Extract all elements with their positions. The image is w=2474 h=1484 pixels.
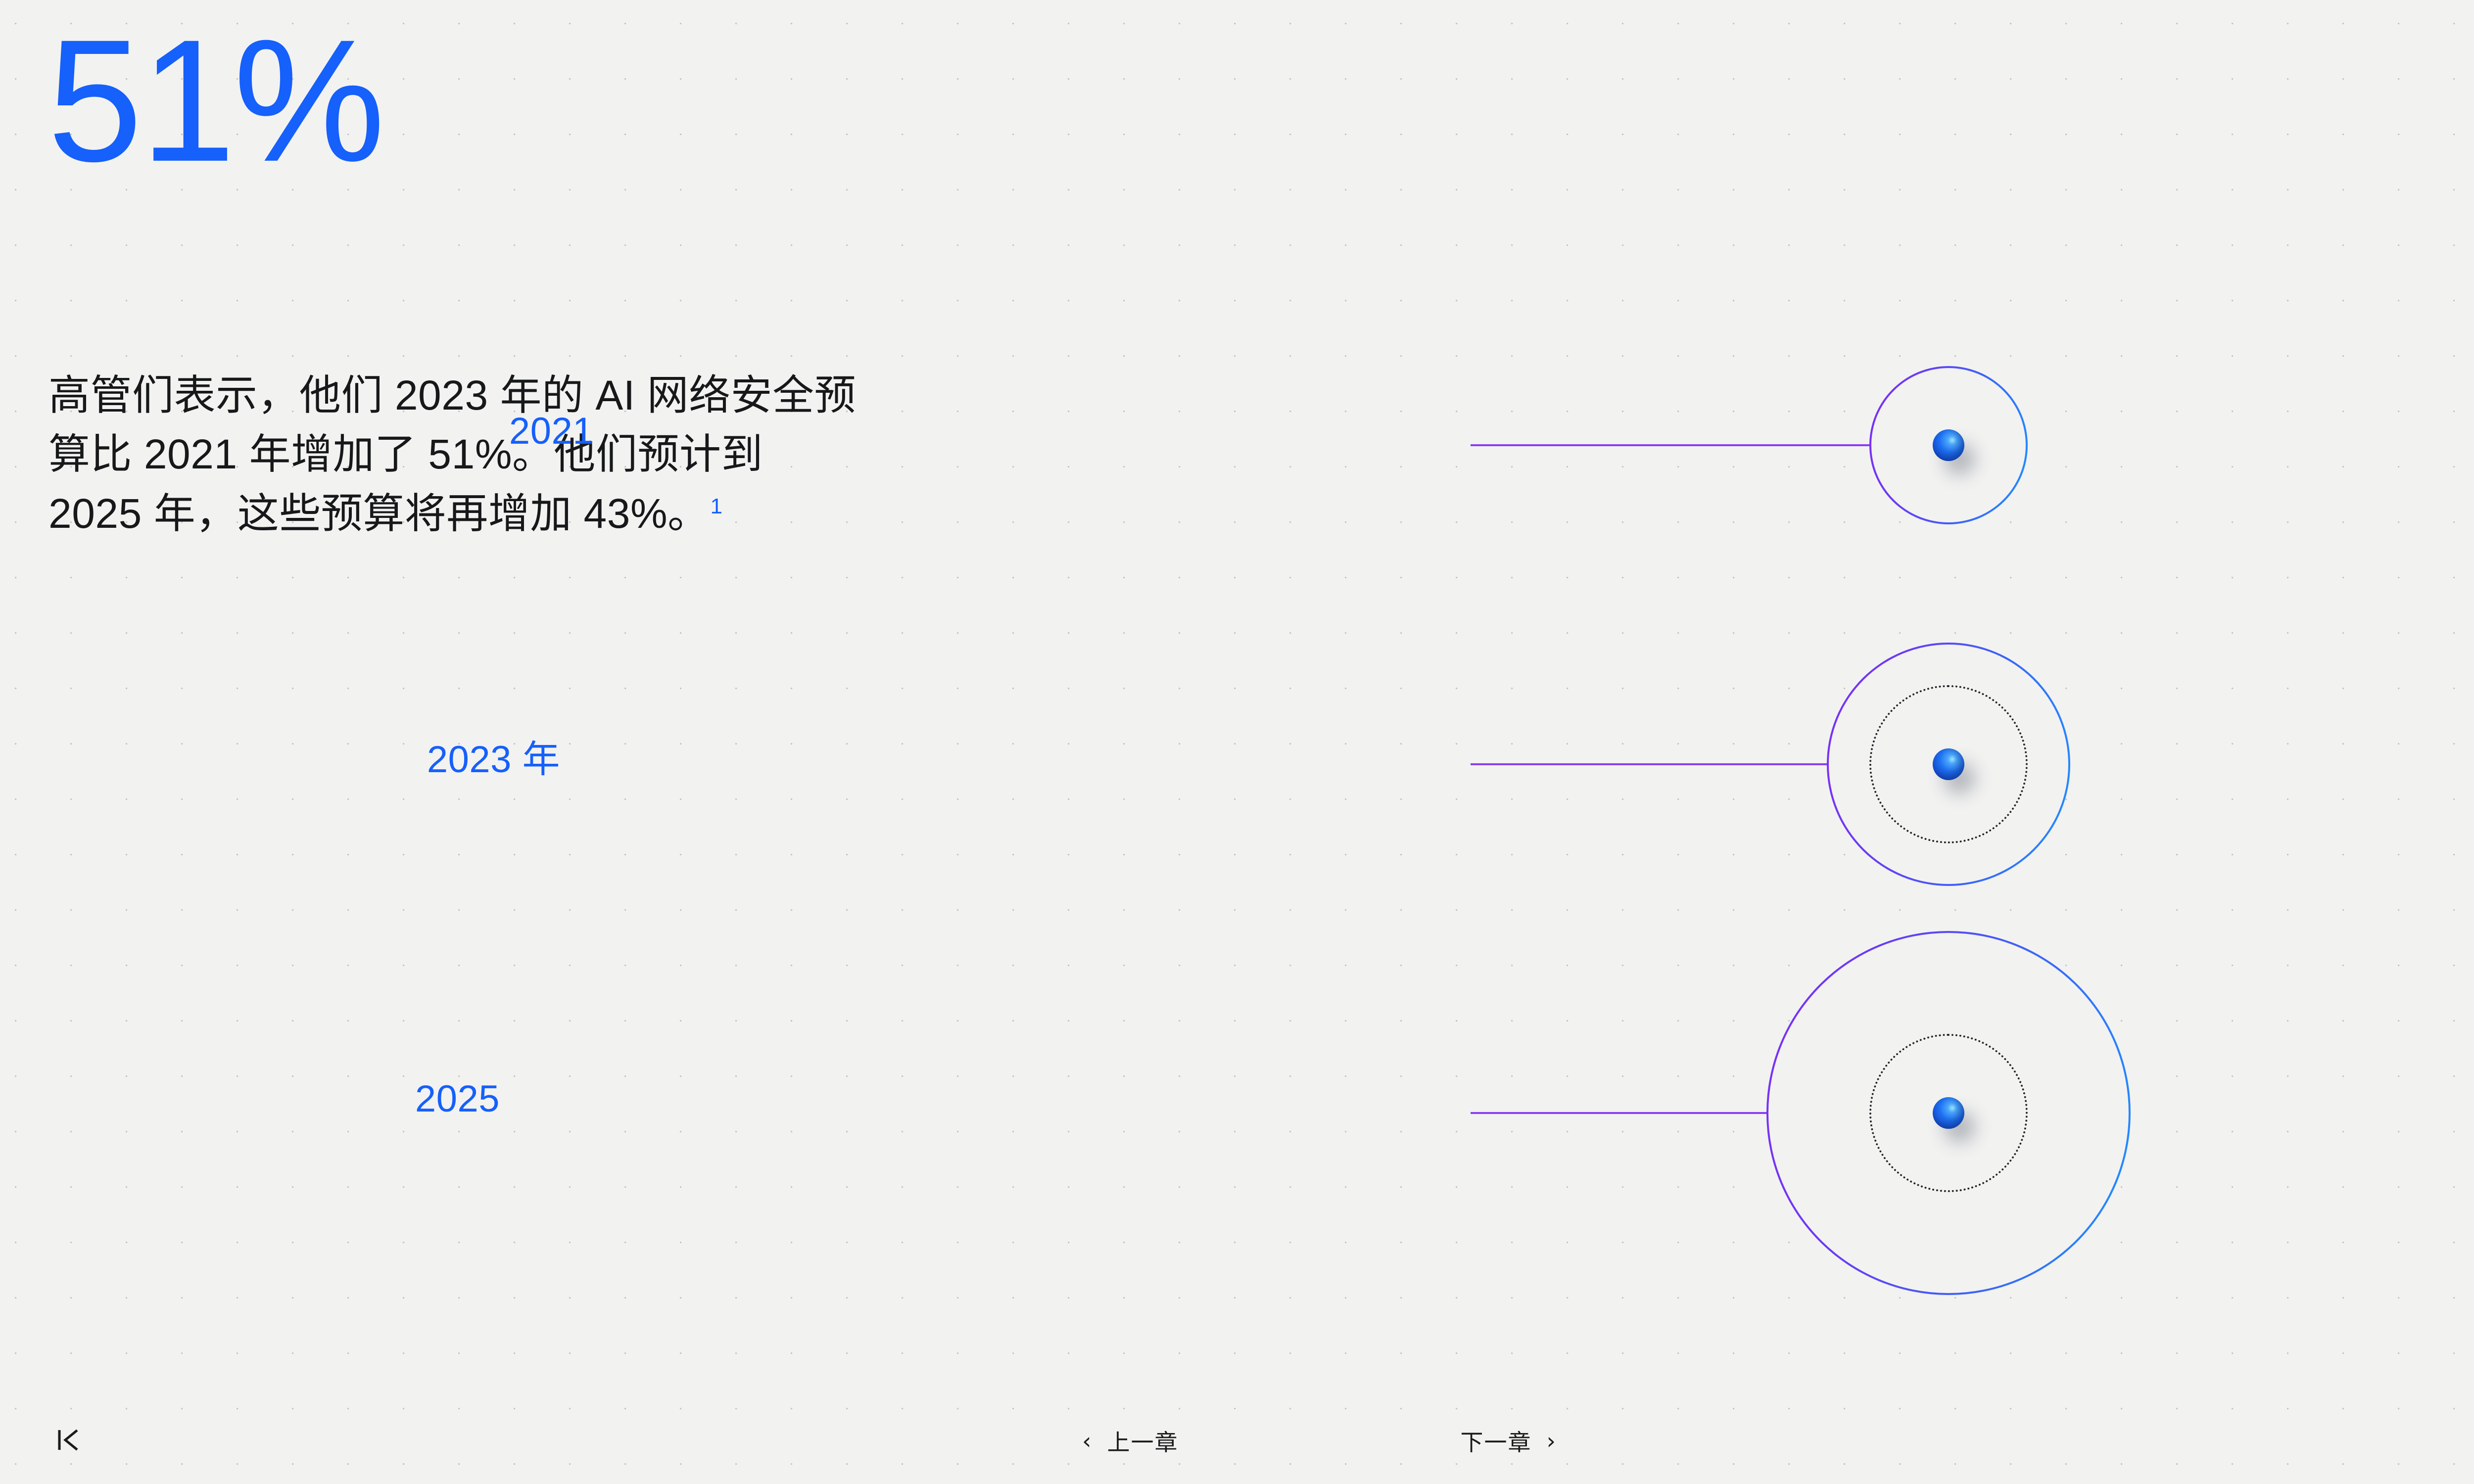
connector-line-2023 bbox=[1471, 763, 1827, 765]
next-chapter-label: 下一章 bbox=[1461, 1425, 1532, 1457]
next-chapter-button[interactable]: 下一章 › bbox=[1461, 1425, 1557, 1457]
headline-statistic: 51% bbox=[48, 14, 383, 188]
chevron-left-icon: ‹ bbox=[1082, 1430, 1092, 1452]
chevron-right-icon: › bbox=[1547, 1430, 1557, 1452]
prev-chapter-button[interactable]: ‹ 上一章 bbox=[1082, 1425, 1178, 1457]
skip-to-first-icon[interactable] bbox=[54, 1426, 84, 1454]
bubble-chart: 2021 2023 年 2025 bbox=[1336, 277, 2227, 1266]
bubble-center-sphere-2025 bbox=[1933, 1097, 1964, 1129]
chapter-navigation: ‹ 上一章 下一章 › bbox=[1082, 1425, 1557, 1457]
slide-canvas: 51% 高管们表示，他们 2023 年的 AI 网络安全预算比 2021 年增加… bbox=[0, 0, 2474, 1484]
bubble-label-2023: 2023 年 bbox=[427, 729, 560, 783]
bubble-center-sphere-2021 bbox=[1933, 429, 1964, 461]
body-paragraph-text: 高管们表示，他们 2023 年的 AI 网络安全预算比 2021 年增加了 51… bbox=[48, 372, 856, 537]
bubble-label-2025: 2025 bbox=[415, 1077, 500, 1120]
connector-line-2025 bbox=[1471, 1112, 1766, 1114]
bubble-center-sphere-2023 bbox=[1933, 748, 1964, 780]
connector-line-2021 bbox=[1471, 444, 1869, 446]
prev-chapter-label: 上一章 bbox=[1107, 1425, 1179, 1457]
slide-footer: ‹ 上一章 下一章 › 8 bbox=[0, 1395, 2474, 1484]
footnote-reference[interactable]: 1 bbox=[710, 494, 722, 518]
bubble-label-2021: 2021 bbox=[509, 410, 594, 453]
body-paragraph: 高管们表示，他们 2023 年的 AI 网络安全预算比 2021 年增加了 51… bbox=[48, 366, 860, 543]
